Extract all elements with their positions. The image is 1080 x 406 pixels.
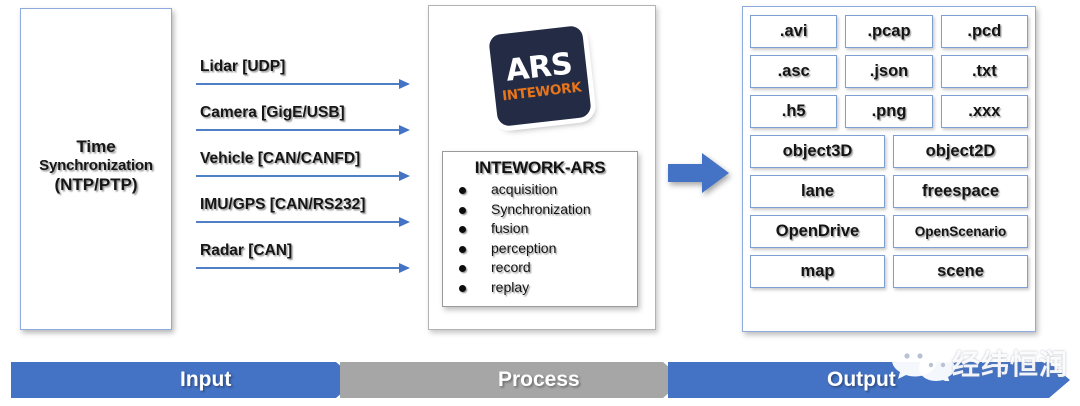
wechat-icon bbox=[890, 341, 960, 381]
output-row: map scene bbox=[750, 255, 1028, 288]
signal-lidar-arrow-icon bbox=[196, 79, 416, 89]
output-cell-map: map bbox=[750, 255, 885, 288]
signal-radar: Radar [CAN] bbox=[196, 242, 416, 273]
list-item: fusion bbox=[457, 219, 637, 239]
output-cell-png: .png bbox=[845, 95, 932, 128]
list-item: Synchronization bbox=[457, 200, 637, 220]
features-list: acquisition Synchronization fusion perce… bbox=[443, 180, 637, 297]
output-row: OpenDrive OpenScenario bbox=[750, 215, 1028, 248]
output-row: .avi .pcap .pcd bbox=[750, 15, 1028, 48]
timesync-line-1: Time bbox=[21, 137, 171, 157]
signal-vehicle-label: Vehicle [CAN/CANFD] bbox=[196, 150, 416, 168]
output-cell-lane: lane bbox=[750, 175, 885, 208]
ars-intework-logo: ARS INTEWORK bbox=[488, 25, 592, 127]
list-item: perception bbox=[457, 239, 637, 259]
output-cell-freespace: freespace bbox=[893, 175, 1028, 208]
output-cell-json: .json bbox=[845, 55, 932, 88]
wechat-watermark: 经纬恒润 bbox=[890, 341, 1075, 385]
stage-label-input: Input bbox=[180, 368, 231, 392]
list-item: record bbox=[457, 258, 637, 278]
time-synchronization-box: Time Synchronization (NTP/PTP) bbox=[20, 8, 172, 330]
stage-label-process: Process bbox=[498, 368, 580, 392]
stage-label-output: Output bbox=[827, 368, 896, 392]
signal-radar-arrow-icon bbox=[196, 263, 416, 273]
output-cell-h5: .h5 bbox=[750, 95, 837, 128]
watermark-text: 经纬恒润 bbox=[952, 343, 1068, 383]
list-item: acquisition bbox=[457, 180, 637, 200]
list-item: replay bbox=[457, 278, 637, 298]
timesync-line-2: Synchronization bbox=[21, 157, 171, 175]
diagram-canvas: Time Synchronization (NTP/PTP) Lidar [UD… bbox=[0, 0, 1080, 406]
output-cell-avi: .avi bbox=[750, 15, 837, 48]
signal-camera-arrow-icon bbox=[196, 125, 416, 135]
output-row: lane freespace bbox=[750, 175, 1028, 208]
output-cell-pcd: .pcd bbox=[941, 15, 1028, 48]
output-row: object3D object2D bbox=[750, 135, 1028, 168]
intework-ars-features-box: INTEWORK-ARS acquisition Synchronization… bbox=[442, 151, 638, 307]
output-cell-asc: .asc bbox=[750, 55, 837, 88]
output-cell-object3d: object3D bbox=[750, 135, 885, 168]
signal-camera: Camera [GigE/USB] bbox=[196, 104, 416, 135]
output-cell-scene: scene bbox=[893, 255, 1028, 288]
output-row: .h5 .png .xxx bbox=[750, 95, 1028, 128]
signal-lidar: Lidar [UDP] bbox=[196, 58, 416, 89]
output-row: .asc .json .txt bbox=[750, 55, 1028, 88]
time-synchronization-label: Time Synchronization (NTP/PTP) bbox=[21, 137, 171, 195]
signal-lidar-label: Lidar [UDP] bbox=[196, 58, 416, 76]
signal-imu-gps: IMU/GPS [CAN/RS232] bbox=[196, 196, 416, 227]
signal-radar-label: Radar [CAN] bbox=[196, 242, 416, 260]
output-cell-openscenario: OpenScenario bbox=[893, 215, 1028, 248]
signal-camera-label: Camera [GigE/USB] bbox=[196, 104, 416, 122]
signal-vehicle: Vehicle [CAN/CANFD] bbox=[196, 150, 416, 181]
output-cell-object2d: object2D bbox=[893, 135, 1028, 168]
output-cell-txt: .txt bbox=[941, 55, 1028, 88]
output-cell-opendrive: OpenDrive bbox=[750, 215, 885, 248]
output-panel: .avi .pcap .pcd .asc .json .txt .h5 .png… bbox=[742, 6, 1036, 332]
right-arrow-icon bbox=[668, 152, 730, 194]
output-cell-xxx: .xxx bbox=[941, 95, 1028, 128]
timesync-line-3: (NTP/PTP) bbox=[21, 175, 171, 195]
signal-vehicle-arrow-icon bbox=[196, 171, 416, 181]
signal-imu-gps-label: IMU/GPS [CAN/RS232] bbox=[196, 196, 416, 214]
output-cell-pcap: .pcap bbox=[845, 15, 932, 48]
features-title: INTEWORK-ARS bbox=[443, 158, 637, 178]
signal-imu-gps-arrow-icon bbox=[196, 217, 416, 227]
